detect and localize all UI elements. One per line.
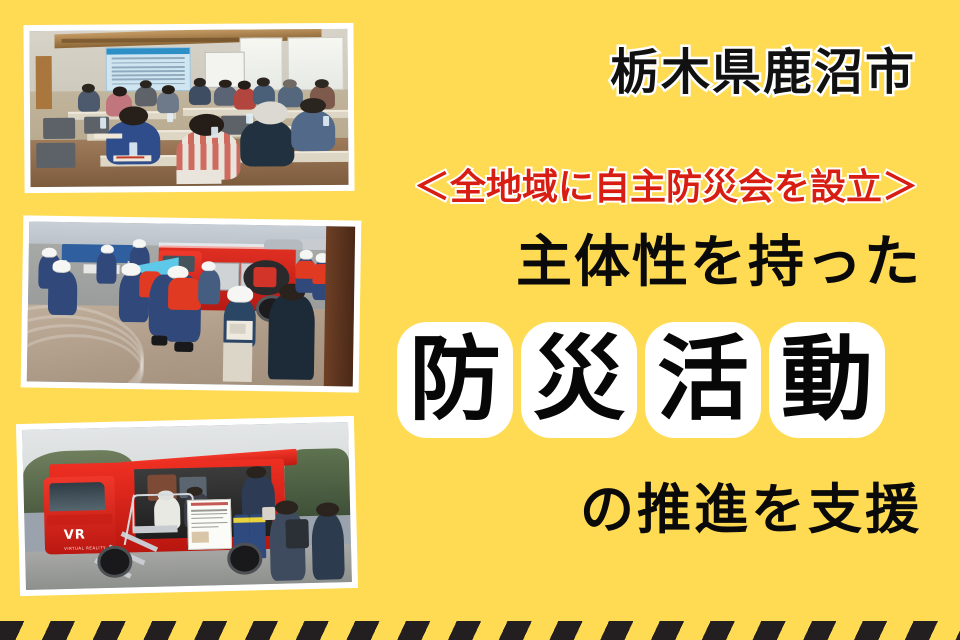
vr-truck-logo: VR bbox=[64, 527, 117, 546]
headline-text: 主体性を持った bbox=[516, 235, 922, 291]
vr-truck-photo-image: VR VIRTUAL REALITY bbox=[22, 422, 352, 590]
kanji-badge-dou: 動 bbox=[769, 322, 885, 438]
kanji-badge-sai: 災 bbox=[521, 322, 637, 438]
kanji-badge-group: 防 災 活 動 bbox=[397, 322, 885, 438]
tagline-text: の推進を支援 bbox=[580, 483, 922, 537]
drill-photo bbox=[21, 215, 362, 392]
drill-photo-image bbox=[27, 221, 355, 386]
hazard-stripe-footer bbox=[0, 621, 960, 640]
subtitle-banner: ＜全地域に自主防災会を設立＞ bbox=[414, 170, 918, 206]
page-title: 栃木県鹿沼市 bbox=[610, 48, 916, 97]
kanji-badge-katsu: 活 bbox=[645, 322, 761, 438]
poster-canvas: VR VIRTUAL REALITY 栃木県鹿沼市 ＜全地域に自主防災会を設立＞… bbox=[0, 0, 960, 640]
vr-truck-logo-sub: VIRTUAL REALITY bbox=[64, 545, 106, 551]
kanji-badge-bou: 防 bbox=[397, 322, 513, 438]
seminar-photo-image bbox=[29, 29, 348, 187]
vr-truck-photo: VR VIRTUAL REALITY bbox=[16, 416, 358, 596]
seminar-photo bbox=[23, 23, 354, 193]
